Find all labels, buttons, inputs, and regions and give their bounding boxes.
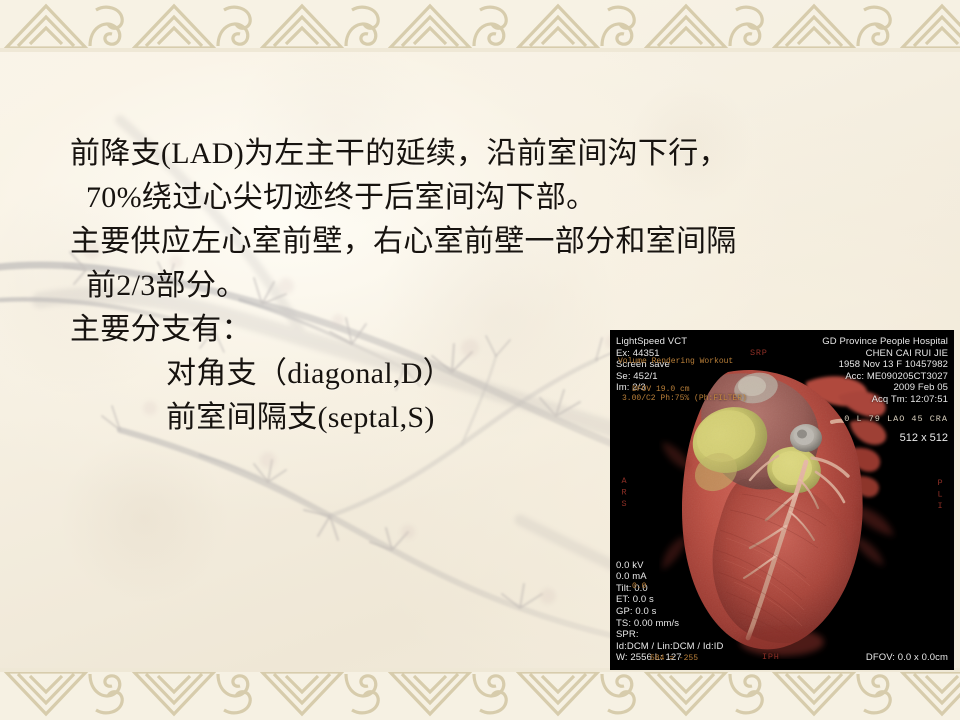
ct-marker-srp: SRP <box>750 348 768 358</box>
ct-amber-recon: 3.00/C2 Ph:75% (Ph:FILTER) <box>622 394 747 404</box>
body-line-5: 主要分支有： <box>70 308 630 352</box>
ct-overlay-bottom-left: 0.0 kV 0.0 mA Tilt: 0.0 ET: 0.0 s GP: 0.… <box>616 560 723 664</box>
ct-overlay-top-right: GD Province People Hospital CHEN CAI RUI… <box>822 336 948 406</box>
ct-modality-label: LightSpeed VCT <box>616 336 687 348</box>
ct-amber-volume-rendering: Volume Rendering Workout <box>618 357 733 367</box>
ct-marker-iph: IPH <box>762 652 780 662</box>
body-line-1: 前降支(LAD)为左主干的延续，沿前室间沟下行， <box>70 132 630 176</box>
ct-dcm-chain: Id:DCM / Lin:DCM / Id:ID <box>616 641 723 653</box>
ct-amber-et: 0.0 <box>632 582 646 592</box>
ct-et: ET: 0.0 s <box>616 594 723 606</box>
ct-patient-name: CHEN CAI RUI JIE <box>822 348 948 360</box>
ct-heart-image-panel: LightSpeed VCT Ex: 44351 Screen save Se:… <box>610 330 954 670</box>
body-line-2: 70%绕过心尖切迹终于后室间沟下部。 <box>70 176 630 220</box>
body-line-7: 前室间隔支(septal,S) <box>70 396 630 440</box>
ct-spr: SPR: <box>616 629 723 641</box>
ct-accession: Acc: ME090205CT3027 <box>822 371 948 383</box>
decorative-border-bottom <box>0 668 960 720</box>
ct-marker-ars: ARS <box>620 476 628 510</box>
ct-acq-time: Acq Tm: 12:07:51 <box>822 394 948 406</box>
ct-series-number: Se: 452/1 <box>616 371 687 383</box>
body-line-4: 前2/3部分。 <box>70 264 630 308</box>
ct-kv: 0.0 kV <box>616 560 723 572</box>
ct-hospital-name: GD Province People Hospital <box>822 336 948 348</box>
body-line-6: 对角支（diagonal,D） <box>70 352 630 396</box>
slide-body-text: 前降支(LAD)为左主干的延续，沿前室间沟下行， 70%绕过心尖切迹终于后室间沟… <box>70 132 630 440</box>
ct-study-date: 2009 Feb 05 <box>822 382 948 394</box>
ct-amber-window: 584 = -255 <box>650 654 698 664</box>
body-line-3: 主要供应左心室前壁，右心室前壁一部分和室间隔 <box>70 220 630 264</box>
ct-ts: TS: 0.00 mm/s <box>616 618 723 630</box>
ct-marker-pli: PLI <box>936 478 944 512</box>
decorative-border-top <box>0 0 960 52</box>
ct-dfov: DFOV: 0.0 x 0.0cm <box>866 652 948 664</box>
ct-matrix-size: 512 x 512 <box>900 432 948 444</box>
ct-gp: GP: 0.0 s <box>616 606 723 618</box>
ct-orientation-angles: 0 L 79 LAO 45 CRA <box>844 414 948 424</box>
ct-patient-info: 1958 Nov 13 F 10457982 <box>822 359 948 371</box>
slide-canvas: 前降支(LAD)为左主干的延续，沿前室间沟下行， 70%绕过心尖切迹终于后室间沟… <box>0 0 960 720</box>
